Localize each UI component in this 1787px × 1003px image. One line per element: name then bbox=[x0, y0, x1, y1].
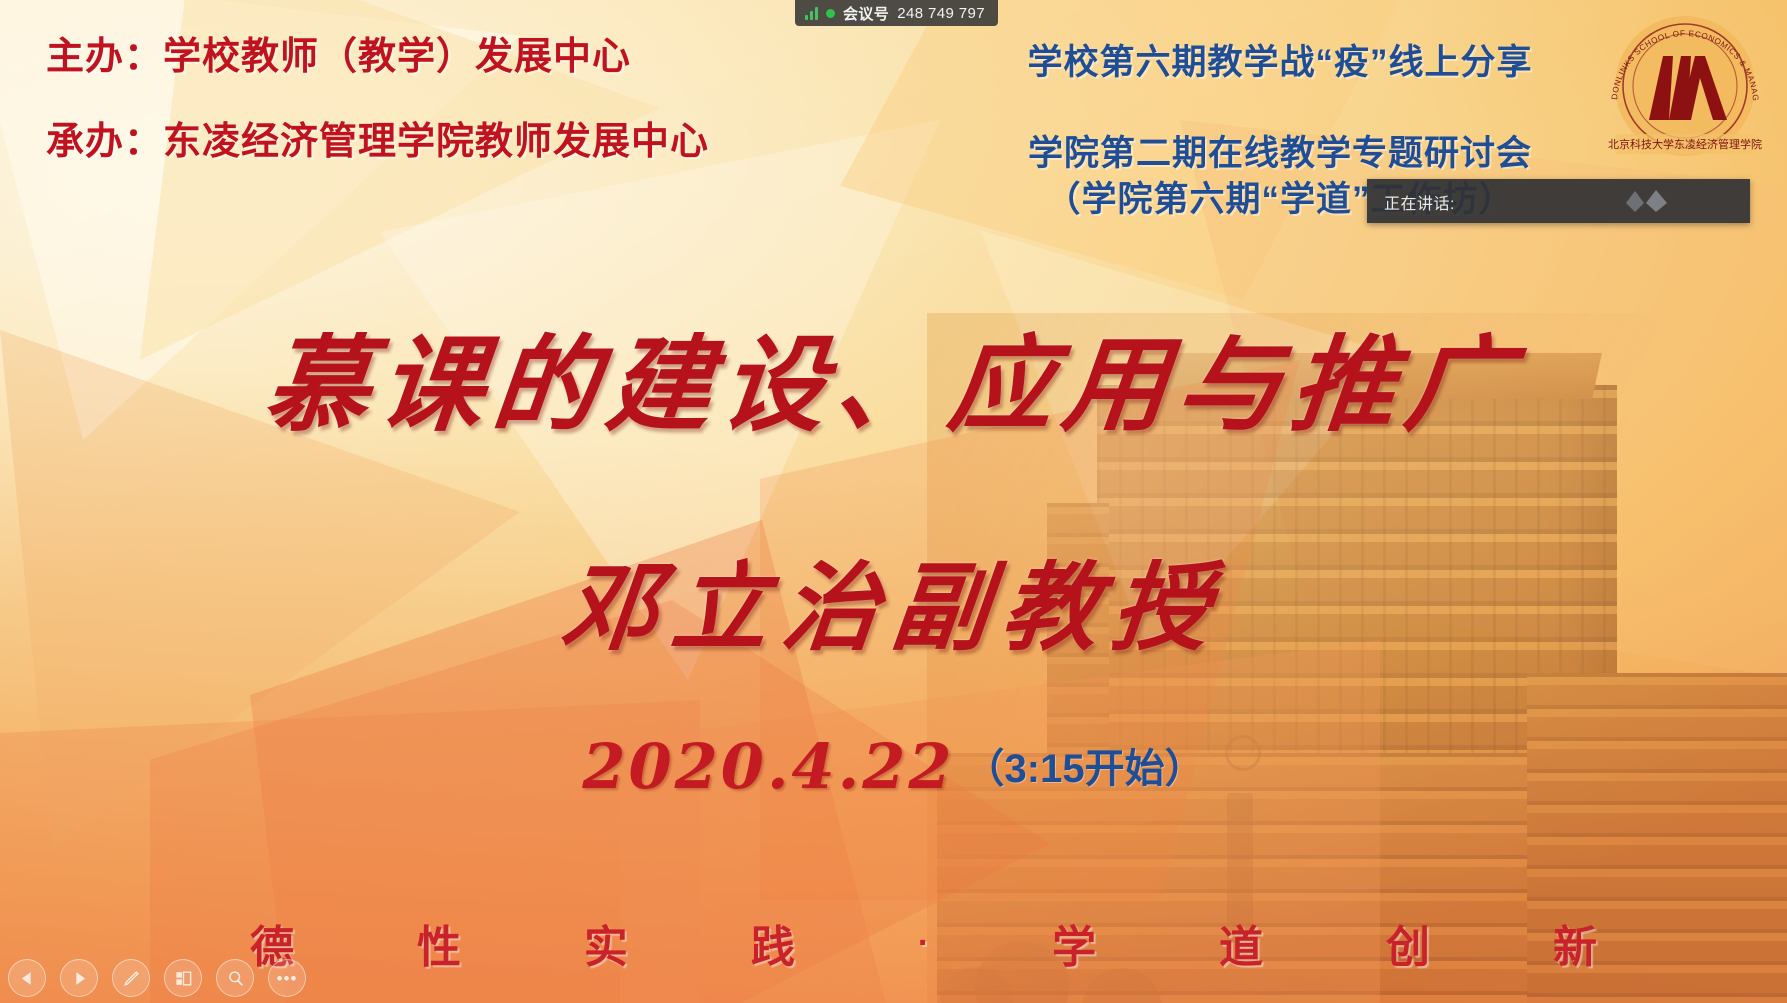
slogan-char: 践 bbox=[751, 911, 795, 975]
meeting-screen-share-stage: 主办：学校教师（教学）发展中心 承办：东凌经济管理学院教师发展中心 学校第六期教… bbox=[0, 0, 1787, 1003]
slide-main-title: 慕课的建设、应用与推广 bbox=[0, 300, 1787, 451]
slide-panel-button[interactable] bbox=[164, 959, 202, 997]
organizer-line-host: 主办：学校教师（教学）发展中心 bbox=[46, 36, 709, 79]
slogan-char: 性 bbox=[417, 911, 461, 975]
presentation-toolbar[interactable]: ••• bbox=[8, 959, 306, 997]
svg-text:北京科技大学东凌经济管理学院: 北京科技大学东凌经济管理学院 bbox=[1608, 137, 1762, 151]
event-title-line-1: 学校第六期教学战“疫”线上分享 bbox=[960, 42, 1600, 83]
meeting-id-bar[interactable]: 会议号 248 749 797 bbox=[795, 0, 998, 26]
slogan-char: 创 bbox=[1386, 911, 1430, 975]
slogan-char: 新 bbox=[1553, 911, 1597, 975]
school-logo: DONLINKS SCHOOL OF ECONOMICS & MANAGEMEN… bbox=[1599, 8, 1771, 166]
organizer-line-coorganizer: 承办：东凌经济管理学院教师发展中心 bbox=[46, 121, 709, 164]
triangle-right-icon bbox=[70, 969, 89, 988]
active-speaker-overlay: 正在讲话: bbox=[1367, 179, 1750, 223]
speaker-waveform-icon bbox=[1622, 187, 1680, 213]
triangle-left-icon bbox=[18, 969, 37, 988]
slogan-separator: · bbox=[918, 924, 929, 963]
slogan-char: 学 bbox=[1052, 911, 1096, 975]
slogan-char: 实 bbox=[584, 911, 628, 975]
recording-status-dot bbox=[826, 9, 835, 18]
slogan-char: 道 bbox=[1219, 911, 1263, 975]
slide-slogan: 德 性 实 践 · 学 道 创 新 bbox=[250, 911, 1597, 975]
slide-speaker-name: 邓立治副教授 bbox=[0, 530, 1787, 669]
organizer-block: 主办：学校教师（教学）发展中心 承办：东凌经济管理学院教师发展中心 bbox=[46, 36, 709, 163]
ellipsis-icon: ••• bbox=[277, 970, 298, 987]
event-title-line-2: 学院第二期在线教学专题研讨会 bbox=[960, 133, 1600, 174]
slide-date-row: 2020.4.22（3:15开始） bbox=[0, 730, 1787, 803]
slide-date: 2020.4.22 bbox=[582, 730, 954, 803]
zoom-button[interactable] bbox=[216, 959, 254, 997]
next-slide-button[interactable] bbox=[60, 959, 98, 997]
slide-start-time-note: （3:15开始） bbox=[965, 747, 1205, 791]
active-speaker-label: 正在讲话: bbox=[1384, 190, 1455, 214]
layout-grid-icon bbox=[174, 969, 193, 988]
magnifier-icon bbox=[226, 969, 245, 988]
more-options-button[interactable]: ••• bbox=[268, 959, 306, 997]
meeting-id-number: 248 749 797 bbox=[897, 5, 985, 22]
annotate-pen-button[interactable] bbox=[112, 959, 150, 997]
prev-slide-button[interactable] bbox=[8, 959, 46, 997]
signal-bars-icon bbox=[805, 7, 818, 20]
meeting-id-label: 会议号 bbox=[843, 3, 889, 24]
pen-icon bbox=[122, 969, 141, 988]
